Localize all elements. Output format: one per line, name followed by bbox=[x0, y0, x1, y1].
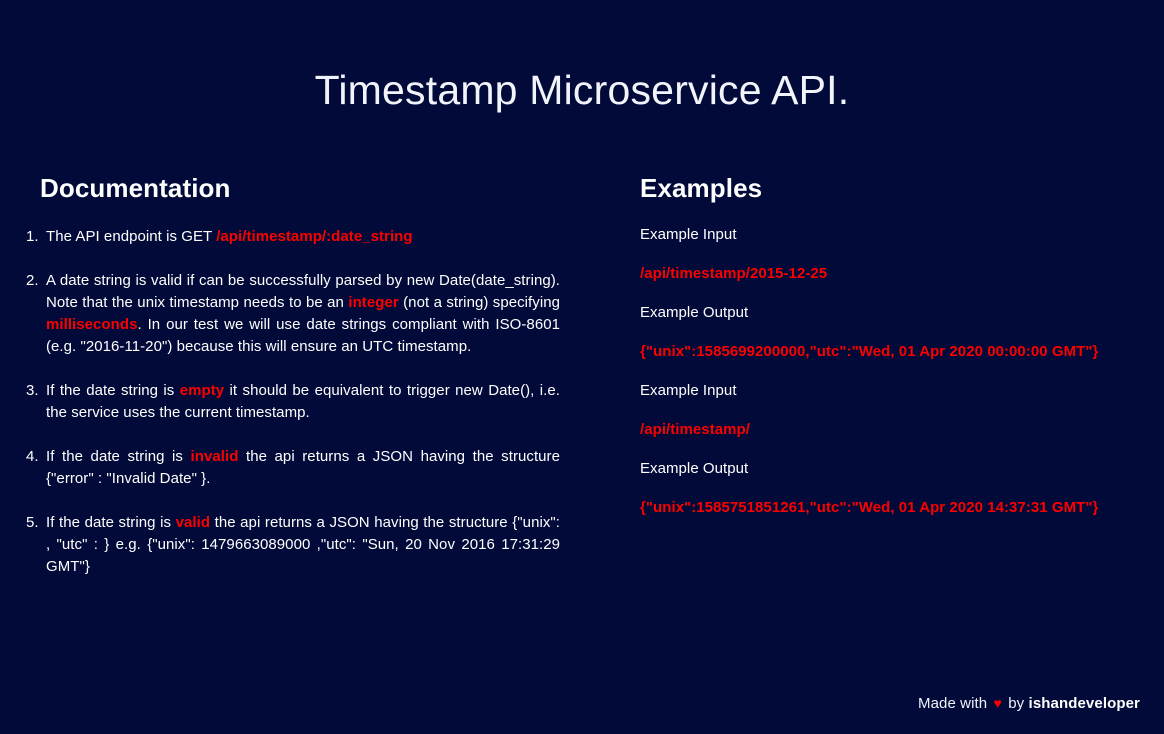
example-entry: Example Input/api/timestamp/ bbox=[640, 382, 1080, 438]
documentation-item: 3.If the date string is empty it should … bbox=[24, 380, 560, 424]
footer-prefix: Made with bbox=[918, 695, 987, 712]
documentation-item-text: If the date string is empty it should be… bbox=[46, 380, 560, 424]
list-marker: 4. bbox=[26, 446, 39, 468]
example-entry: Example Output{"unix":1585699200000,"utc… bbox=[640, 304, 1080, 360]
documentation-list: 1.The API endpoint is GET /api/timestamp… bbox=[24, 226, 560, 579]
example-entry: Example Input/api/timestamp/2015-12-25 bbox=[640, 226, 1080, 282]
examples-heading: Examples bbox=[640, 173, 1080, 204]
example-label: Example Output bbox=[640, 304, 1080, 321]
list-marker: 1. bbox=[26, 226, 39, 248]
accent-term: milliseconds bbox=[46, 316, 137, 333]
example-label: Example Output bbox=[640, 460, 1080, 477]
example-value: /api/timestamp/ bbox=[640, 421, 1080, 438]
example-label: Example Input bbox=[640, 226, 1080, 243]
footer-middle: by bbox=[1008, 695, 1024, 712]
examples-list: Example Input/api/timestamp/2015-12-25Ex… bbox=[640, 226, 1080, 516]
page-root: Timestamp Microservice API. Documentatio… bbox=[0, 27, 1164, 734]
example-label: Example Input bbox=[640, 382, 1080, 399]
examples-column: Examples Example Input/api/timestamp/201… bbox=[560, 173, 1080, 538]
documentation-item: 5.If the date string is valid the api re… bbox=[24, 512, 560, 578]
documentation-heading: Documentation bbox=[40, 173, 560, 204]
documentation-item-text: If the date string is invalid the api re… bbox=[46, 446, 560, 490]
page-title: Timestamp Microservice API. bbox=[0, 27, 1164, 114]
accent-term: valid bbox=[176, 514, 210, 531]
accent-term: integer bbox=[348, 294, 398, 311]
accent-term: /api/timestamp/:date_string bbox=[216, 228, 412, 245]
accent-term: invalid bbox=[191, 448, 239, 465]
documentation-item: 4.If the date string is invalid the api … bbox=[24, 446, 560, 490]
footer-credit: Made with ♥ by ishandeveloper bbox=[918, 695, 1140, 712]
example-value: /api/timestamp/2015-12-25 bbox=[640, 265, 1080, 282]
accent-term: empty bbox=[180, 382, 224, 399]
example-value: {"unix":1585751851261,"utc":"Wed, 01 Apr… bbox=[640, 499, 1080, 516]
documentation-item: 2.A date string is valid if can be succe… bbox=[24, 270, 560, 358]
text-run: If the date string is bbox=[46, 514, 176, 531]
documentation-item-text: The API endpoint is GET /api/timestamp/:… bbox=[46, 226, 560, 248]
list-marker: 2. bbox=[26, 270, 39, 292]
documentation-item: 1.The API endpoint is GET /api/timestamp… bbox=[24, 226, 560, 248]
list-marker: 3. bbox=[26, 380, 39, 402]
documentation-column: Documentation 1.The API endpoint is GET … bbox=[0, 173, 560, 579]
text-run: (not a string) specifying bbox=[399, 294, 560, 311]
footer-author-link[interactable]: ishandeveloper bbox=[1029, 695, 1140, 712]
example-value: {"unix":1585699200000,"utc":"Wed, 01 Apr… bbox=[640, 343, 1080, 360]
example-entry: Example Output{"unix":1585751851261,"utc… bbox=[640, 460, 1080, 516]
text-run: If the date string is bbox=[46, 448, 191, 465]
text-run: The API endpoint is GET bbox=[46, 228, 216, 245]
text-run: If the date string is bbox=[46, 382, 180, 399]
list-marker: 5. bbox=[26, 512, 39, 534]
documentation-item-text: A date string is valid if can be success… bbox=[46, 270, 560, 358]
documentation-item-text: If the date string is valid the api retu… bbox=[46, 512, 560, 578]
heart-icon: ♥ bbox=[992, 695, 1004, 711]
content-columns: Documentation 1.The API endpoint is GET … bbox=[0, 173, 1164, 579]
